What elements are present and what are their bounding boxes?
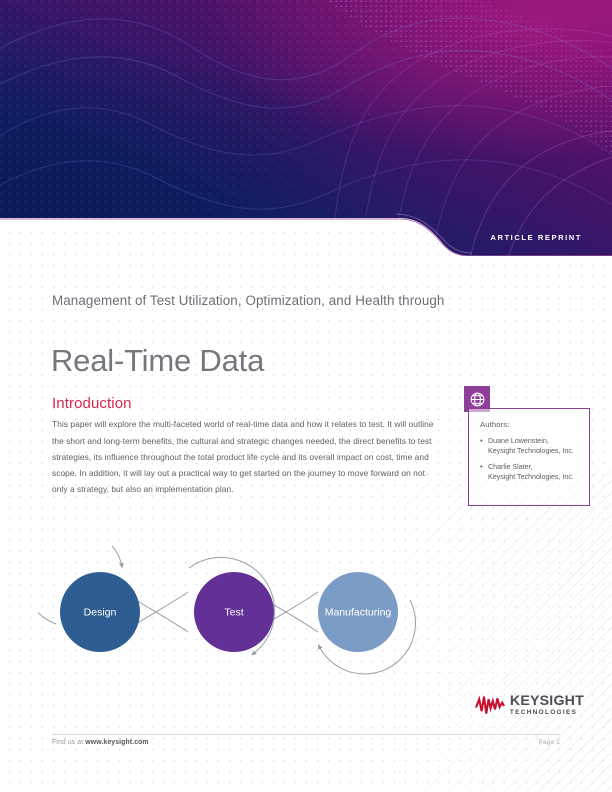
bullet-icon: • [480,436,488,456]
authors-card: Authors: • Duane Lowenstein, Keysight Te… [468,408,590,506]
globe-glyph [469,391,486,408]
introduction-heading: Introduction [52,395,132,412]
keysight-wordmark: KEYSIGHT [510,694,584,708]
footer-find-us: Find us at www.keysight.com [52,739,149,746]
author-company: Keysight Technologies, Inc. [488,473,574,481]
bullet-icon: • [480,462,488,482]
authors-label: Authors: [480,420,580,429]
author-name: Duane Lowenstein, [488,437,549,445]
author-name: Charlie Slater, [488,463,533,471]
keysight-waveform-icon [475,695,505,716]
footer-divider [52,734,560,735]
keysight-logo: KEYSIGHT TECHNOLOGIES [475,694,584,717]
author-item: • Charlie Slater, Keysight Technologies,… [480,462,580,482]
lifecycle-diagram: Design Test Manufacturing [38,546,430,678]
page-title: Real-Time Data [51,344,264,378]
hero-banner: ARTICLE REPRINT [0,0,612,256]
introduction-paragraph: This paper will explore the multi-facete… [52,416,437,497]
document-page: ARTICLE REPRINT Management of Test Utili… [0,0,612,792]
footer-find-us-prefix: Find us at [52,739,85,746]
cycle-node-design-label: Design [84,607,117,619]
author-company: Keysight Technologies, Inc. [488,447,574,455]
hero-artwork [0,0,612,256]
footer-website-link[interactable]: www.keysight.com [85,739,148,746]
article-reprint-eyebrow: ARTICLE REPRINT [490,234,582,242]
page-subtitle: Management of Test Utilization, Optimiza… [52,293,492,310]
keysight-subwordmark: TECHNOLOGIES [510,710,584,716]
footer-page-number: Page 1 [539,739,561,746]
author-item: • Duane Lowenstein, Keysight Technologie… [480,436,580,456]
cycle-node-manufacturing-label: Manufacturing [325,607,392,619]
cycle-node-test-label: Test [224,607,243,619]
